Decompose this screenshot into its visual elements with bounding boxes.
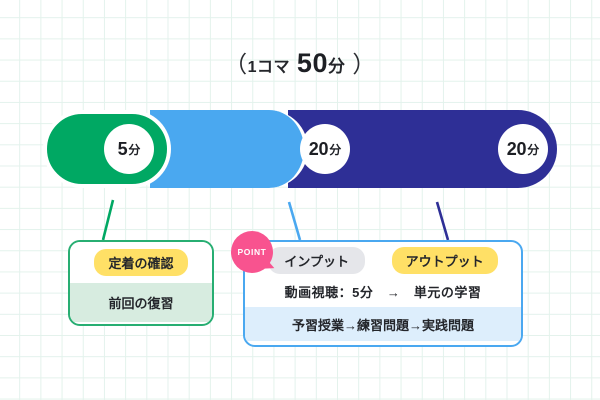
card-review-body-text: 前回の復習 (108, 293, 173, 312)
duration-badge-blue-value: 20 (309, 139, 328, 160)
card-review-body: 前回の復習 (70, 283, 212, 322)
card-point-tag-output: アウトプット (392, 247, 498, 274)
duration-badge-blue-unit: 分 (329, 141, 341, 158)
card-point-footer-text: 予習授業→練習問題→実践問題 (292, 315, 474, 334)
infographic-canvas: （1コマ 50分 ） 5分 20分 20分 定着の確認 前回の復習 インプッ (0, 0, 600, 400)
point-badge-label: POINT (238, 247, 267, 257)
card-review-header: 定着の確認 (70, 242, 212, 283)
duration-badge-navy: 20分 (498, 124, 548, 174)
card-review-tag: 定着の確認 (94, 249, 187, 276)
card-point-tag-input: インプット (268, 247, 365, 274)
connector-navy (437, 202, 448, 240)
card-point-footer: 予習授業→練習問題→実践問題 (245, 307, 521, 341)
card-point: インプット アウトプット 動画視聴：5分 → 単元の学習 予習授業→練習問題→実… (243, 240, 523, 347)
point-badge: POINT (231, 231, 273, 273)
title-unit: 分 (328, 57, 346, 76)
connector-blue (289, 202, 300, 240)
timeline-bar: 5分 20分 20分 (0, 110, 600, 192)
duration-badge-blue: 20分 (300, 124, 350, 174)
duration-badge-green-value: 5 (118, 139, 128, 160)
duration-badge-green: 5分 (104, 124, 154, 174)
title-open-paren: （ (224, 51, 248, 77)
point-badge-circle: POINT (231, 231, 273, 273)
duration-badge-navy-value: 20 (507, 139, 526, 160)
card-review: 定着の確認 前回の復習 (68, 240, 214, 326)
connector-green (103, 200, 113, 240)
card-point-tags: インプット アウトプット (245, 242, 521, 275)
title-close-paren: ） (352, 51, 376, 77)
duration-badge-navy-unit: 分 (527, 141, 539, 158)
title-value: 50 (297, 48, 328, 78)
title-prefix: 1コマ (248, 59, 290, 76)
card-point-middle-text: 動画視聴：5分 → 単元の学習 (285, 282, 482, 301)
duration-badge-green-unit: 分 (128, 141, 140, 158)
timeline-segment-blue (150, 110, 308, 188)
card-point-middle: 動画視聴：5分 → 単元の学習 (245, 275, 521, 307)
page-title: （1コマ 50分 ） (0, 45, 600, 79)
